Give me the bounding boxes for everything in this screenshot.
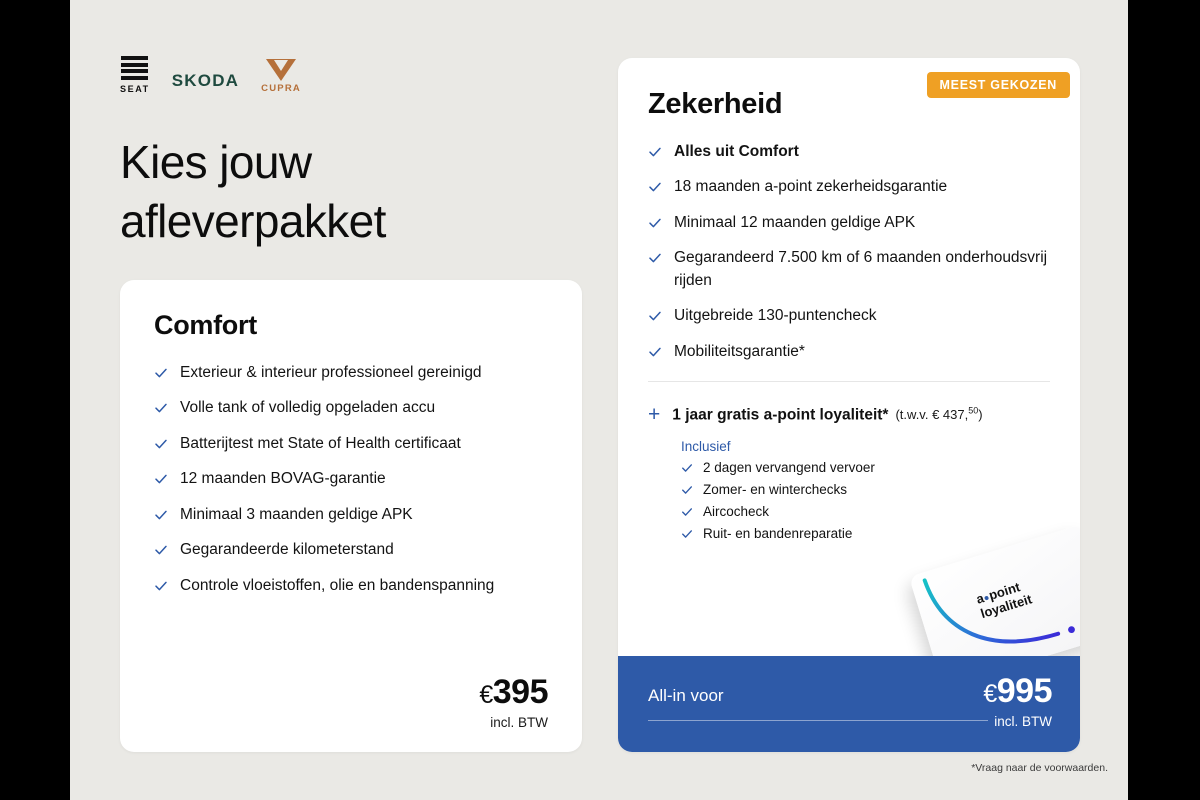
list-item: Controle vloeistoffen, olie en bandenspa… (154, 575, 548, 597)
zekerheid-body: Zekerheid Alles uit Comfort 18 maanden a… (618, 58, 1080, 541)
skoda-logo-label: SKODA (172, 71, 239, 94)
seat-mark-icon (121, 56, 148, 81)
cupra-logo: CUPRA (261, 59, 301, 94)
seat-logo: SEAT (120, 56, 150, 94)
list-item-label: Controle vloeistoffen, olie en bandenspa… (180, 575, 494, 597)
list-item: Volle tank of volledig opgeladen accu (154, 397, 548, 419)
check-icon (681, 462, 693, 474)
list-item-label: 12 maanden BOVAG-garantie (180, 468, 386, 490)
check-icon (681, 506, 693, 518)
list-item-label: Volle tank of volledig opgeladen accu (180, 397, 435, 419)
plus-icon: + (648, 404, 660, 425)
list-item: Batterijtest met State of Health certifi… (154, 433, 548, 455)
comfort-feature-list: Exterieur & interieur professioneel gere… (154, 362, 548, 597)
check-icon (154, 543, 168, 557)
check-icon (648, 251, 662, 265)
list-item-label: Minimaal 3 maanden geldige APK (180, 504, 413, 526)
list-item-label: Gegarandeerde kilometerstand (180, 539, 394, 561)
list-item-label: Batterijtest met State of Health certifi… (180, 433, 461, 455)
cupra-logo-label: CUPRA (261, 83, 301, 94)
check-icon (154, 401, 168, 415)
page-title: Kies jouw afleverpakket (120, 133, 550, 251)
check-icon (648, 145, 662, 159)
section-divider (648, 381, 1050, 382)
list-item-label: Minimaal 12 maanden geldige APK (674, 212, 915, 234)
list-item-label: Alles uit Comfort (674, 141, 799, 163)
list-item: 12 maanden BOVAG-garantie (154, 468, 548, 490)
loyalty-extra-title: 1 jaar gratis a-point loyaliteit* (672, 406, 888, 423)
comfort-price-amount: 395 (493, 673, 548, 711)
list-item-label: 2 dagen vervangend vervoer (703, 460, 875, 475)
currency-symbol: € (983, 680, 996, 708)
allin-price-amount: 995 (997, 672, 1052, 710)
list-item-label: Aircocheck (703, 504, 769, 519)
list-item: Minimaal 12 maanden geldige APK (648, 212, 1050, 234)
list-item-label: Uitgebreide 130-puntencheck (674, 305, 877, 327)
check-icon (648, 180, 662, 194)
allin-vat-note: incl. BTW (983, 714, 1052, 729)
loyalty-value-prefix: (t.w.v. € 437, (895, 407, 968, 422)
list-item-label: Gegarandeerd 7.500 km of 6 maanden onder… (674, 247, 1050, 292)
zekerheid-feature-list: Alles uit Comfort 18 maanden a-point zek… (648, 141, 1050, 363)
check-icon (648, 216, 662, 230)
list-item: 2 dagen vervangend vervoer (681, 460, 1050, 475)
footnote: *Vraag naar de voorwaarden. (971, 762, 1108, 774)
list-item: Gegarandeerde kilometerstand (154, 539, 548, 561)
list-item: Mobiliteitsgarantie* (648, 341, 1050, 363)
list-item-label: Zomer- en winterchecks (703, 482, 847, 497)
check-icon (648, 309, 662, 323)
brand-logo-row: SEAT SKODA CUPRA (120, 56, 301, 94)
allin-price-block: €995 incl. BTW (983, 674, 1052, 729)
list-item-label: Ruit- en bandenreparatie (703, 526, 852, 541)
list-item-label: Mobiliteitsgarantie* (674, 341, 805, 363)
package-card-zekerheid[interactable]: MEEST GEKOZEN Zekerheid Alles uit Comfor… (618, 58, 1080, 752)
cupra-mark-icon (266, 59, 296, 81)
comfort-title: Comfort (154, 310, 548, 341)
inclusief-heading: Inclusief (681, 439, 1050, 454)
check-icon (154, 366, 168, 380)
comfort-price-block: €395 incl. BTW (479, 675, 548, 730)
list-item: Exterieur & interieur professioneel gere… (154, 362, 548, 384)
loyalty-value-sup: 50 (968, 406, 978, 416)
list-item: Minimaal 3 maanden geldige APK (154, 504, 548, 526)
comfort-price: €395 (479, 675, 548, 709)
loyalty-sub-list: 2 dagen vervangend vervoer Zomer- en win… (681, 460, 1050, 541)
list-item: 18 maanden a-point zekerheidsgarantie (648, 176, 1050, 198)
loyalty-extra-value: (t.w.v. € 437,50) (895, 407, 982, 422)
check-icon (681, 484, 693, 496)
list-item: Aircocheck (681, 504, 1050, 519)
comfort-vat-note: incl. BTW (479, 715, 548, 730)
check-icon (154, 579, 168, 593)
list-item: Gegarandeerd 7.500 km of 6 maanden onder… (648, 247, 1050, 292)
allin-price-bar: All-in voor €995 incl. BTW (618, 656, 1080, 752)
allin-label: All-in voor (648, 686, 724, 706)
list-item: Ruit- en bandenreparatie (681, 526, 1050, 541)
allin-price-value: €995 (983, 674, 1052, 708)
allin-divider (648, 720, 988, 721)
list-item-label: Exterieur & interieur professioneel gere… (180, 362, 482, 384)
loyalty-value-suffix: ) (978, 407, 982, 422)
zekerheid-title: Zekerheid (648, 88, 1050, 121)
seat-logo-label: SEAT (120, 84, 150, 94)
check-icon (681, 528, 693, 540)
page-content: SEAT SKODA CUPRA Kies jouw afleverpakket… (70, 0, 1128, 800)
screenshot-stage: SEAT SKODA CUPRA Kies jouw afleverpakket… (0, 0, 1200, 800)
list-item-label: 18 maanden a-point zekerheidsgarantie (674, 176, 947, 198)
list-item: Uitgebreide 130-puntencheck (648, 305, 1050, 327)
loyalty-extra-row: + 1 jaar gratis a-point loyaliteit*(t.w.… (648, 402, 1050, 424)
check-icon (154, 472, 168, 486)
check-icon (648, 345, 662, 359)
check-icon (154, 437, 168, 451)
check-icon (154, 508, 168, 522)
list-item: Zomer- en winterchecks (681, 482, 1050, 497)
list-item: Alles uit Comfort (648, 141, 1050, 163)
package-card-comfort[interactable]: Comfort Exterieur & interieur profession… (120, 280, 582, 752)
currency-symbol: € (479, 681, 492, 709)
